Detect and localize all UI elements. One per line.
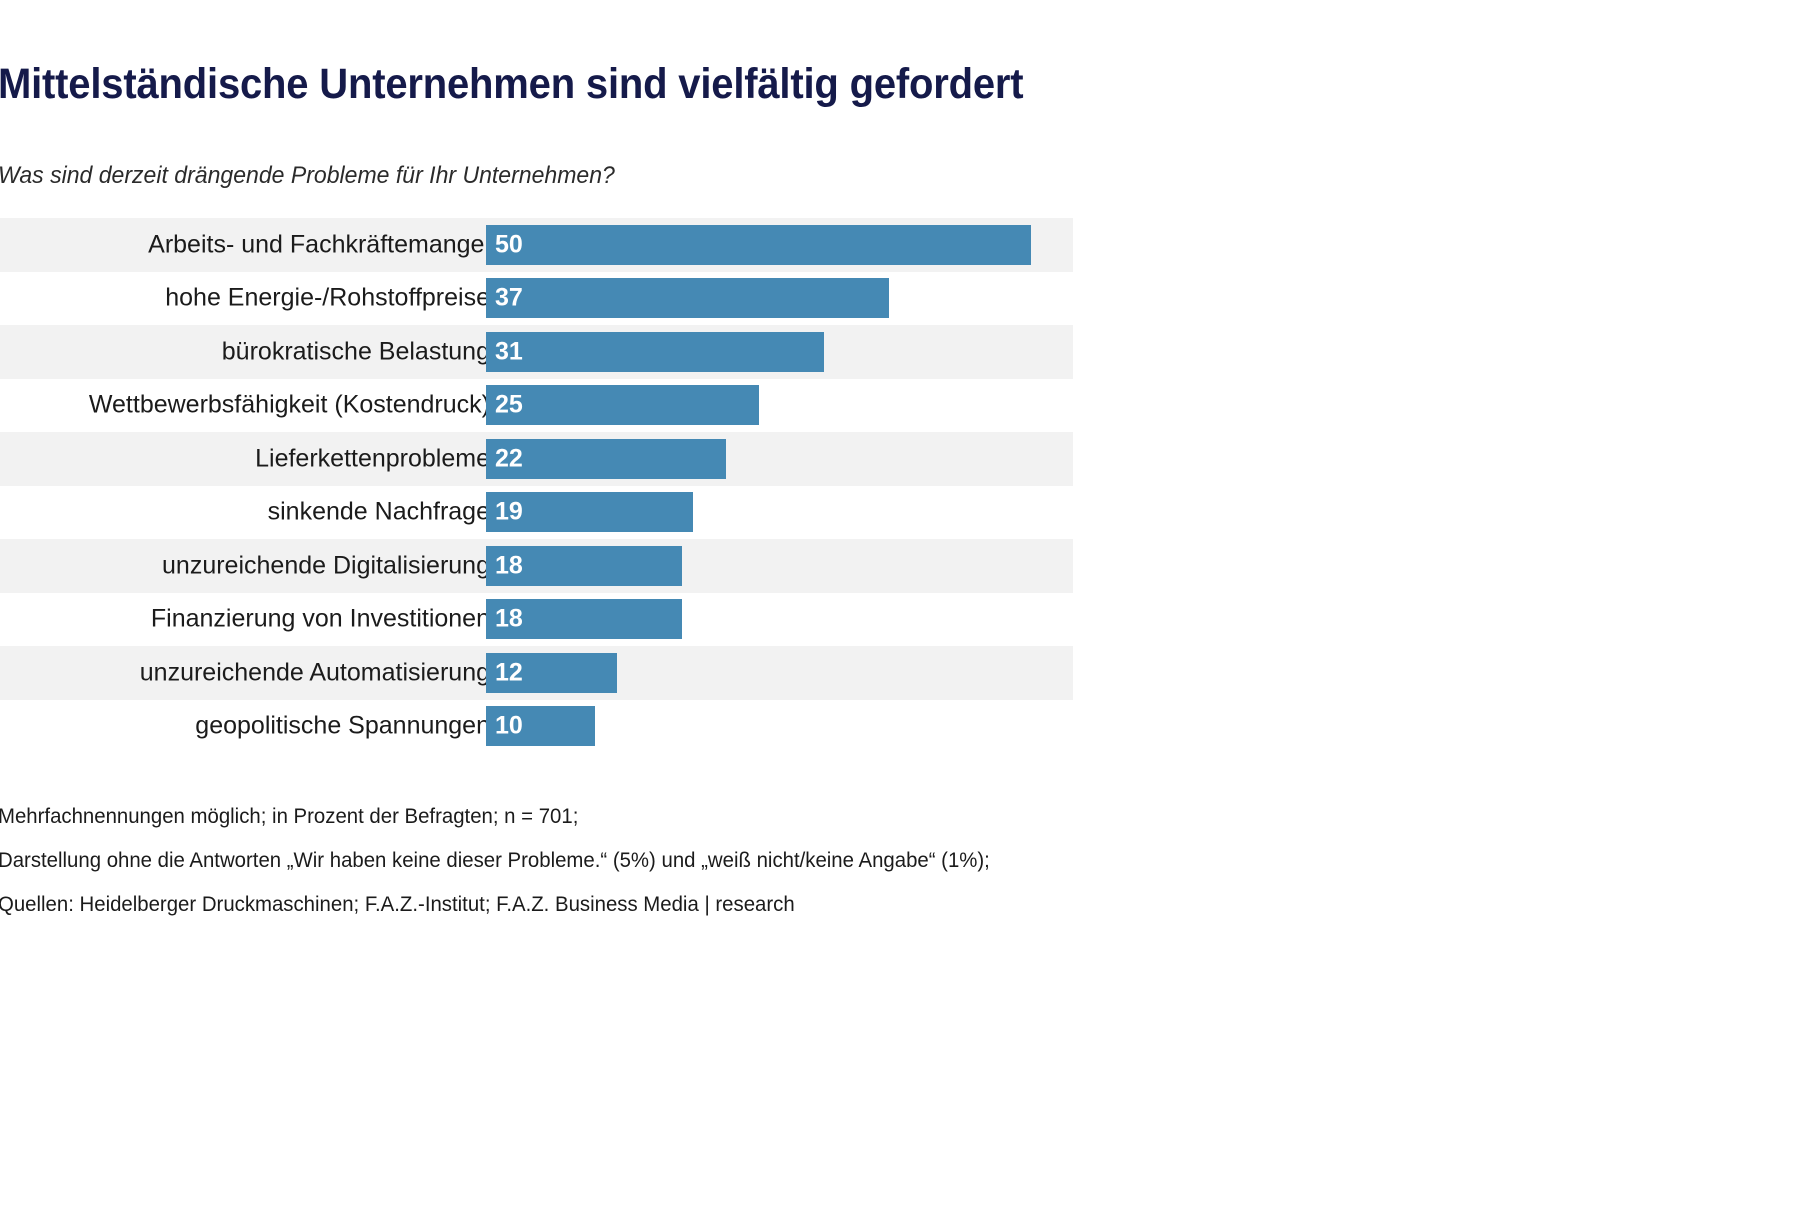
- bar: 18: [486, 546, 682, 586]
- bar-value-label: 10: [495, 714, 523, 739]
- bar-wrapper: 37: [486, 278, 889, 318]
- bar: 18: [486, 599, 682, 639]
- bar-row: Finanzierung von Investitionen18: [0, 593, 1073, 647]
- bar-category-label: geopolitische Spannungen: [195, 712, 490, 741]
- bar-row: unzureichende Digitalisierung18: [0, 539, 1073, 593]
- footnote-method: Mehrfachnennungen möglich; in Prozent de…: [0, 806, 1356, 827]
- bar-wrapper: 19: [486, 492, 693, 532]
- bar-value-label: 18: [495, 607, 523, 632]
- bar-row: geopolitische Spannungen10: [0, 700, 1073, 754]
- bar-category-label: Wettbewerbsfähigkeit (Kostendruck): [89, 391, 490, 420]
- bar: 50: [486, 225, 1031, 265]
- bar-value-label: 50: [495, 232, 523, 257]
- bar-wrapper: 18: [486, 599, 682, 639]
- bar-wrapper: 18: [486, 546, 682, 586]
- bar-category-label: Finanzierung von Investitionen: [151, 605, 490, 634]
- bar-value-label: 31: [495, 339, 523, 364]
- bar-value-label: 19: [495, 500, 523, 525]
- bar: 31: [486, 332, 824, 372]
- bar-wrapper: 25: [486, 385, 759, 425]
- bar: 37: [486, 278, 889, 318]
- bar-value-label: 25: [495, 393, 523, 418]
- bar-category-label: unzureichende Automatisierung: [140, 658, 490, 687]
- bar-row: Lieferkettenprobleme22: [0, 432, 1073, 486]
- bar: 25: [486, 385, 759, 425]
- bar-row: bürokratische Belastung31: [0, 325, 1073, 379]
- bar-row: Arbeits- und Fachkräftemangel50: [0, 218, 1073, 272]
- bar-category-label: bürokratische Belastung: [222, 337, 490, 366]
- chart-sheet: Mittelständische Unternehmen sind vielfä…: [0, 0, 1820, 1213]
- chart-footnotes: Mehrfachnennungen möglich; in Prozent de…: [0, 806, 1398, 938]
- bar: 19: [486, 492, 693, 532]
- bar-row: hohe Energie-/Rohstoffpreise37: [0, 272, 1073, 326]
- bar-row: Wettbewerbsfähigkeit (Kostendruck)25: [0, 379, 1073, 433]
- chart-subtitle: Was sind derzeit drängende Probleme für …: [0, 162, 615, 190]
- footnote-sources: Quellen: Heidelberger Druckmaschinen; F.…: [0, 894, 1356, 915]
- bar-wrapper: 50: [486, 225, 1031, 265]
- bar-value-label: 22: [495, 446, 523, 471]
- bar-row: unzureichende Automatisierung12: [0, 646, 1073, 700]
- bar: 12: [486, 653, 617, 693]
- bar-value-label: 12: [495, 660, 523, 685]
- page-title: Mittelständische Unternehmen sind vielfä…: [0, 60, 1023, 109]
- footnote-excluded: Darstellung ohne die Antworten „Wir habe…: [0, 850, 1356, 871]
- bar-row: sinkende Nachfrage19: [0, 486, 1073, 540]
- bar-category-label: sinkende Nachfrage: [268, 498, 490, 527]
- bar-chart-plot: Arbeits- und Fachkräftemangel50hohe Ener…: [0, 218, 1073, 753]
- bar-value-label: 18: [495, 553, 523, 578]
- bar-category-label: hohe Energie-/Rohstoffpreise: [165, 284, 490, 313]
- bar: 22: [486, 439, 726, 479]
- bar-wrapper: 31: [486, 332, 824, 372]
- bar-wrapper: 10: [486, 706, 595, 746]
- bar-value-label: 37: [495, 286, 523, 311]
- bar-category-label: Arbeits- und Fachkräftemangel: [148, 230, 490, 259]
- bar-wrapper: 12: [486, 653, 617, 693]
- bar-category-label: Lieferkettenprobleme: [255, 444, 490, 473]
- bar-category-label: unzureichende Digitalisierung: [162, 551, 490, 580]
- bar-wrapper: 22: [486, 439, 726, 479]
- bar: 10: [486, 706, 595, 746]
